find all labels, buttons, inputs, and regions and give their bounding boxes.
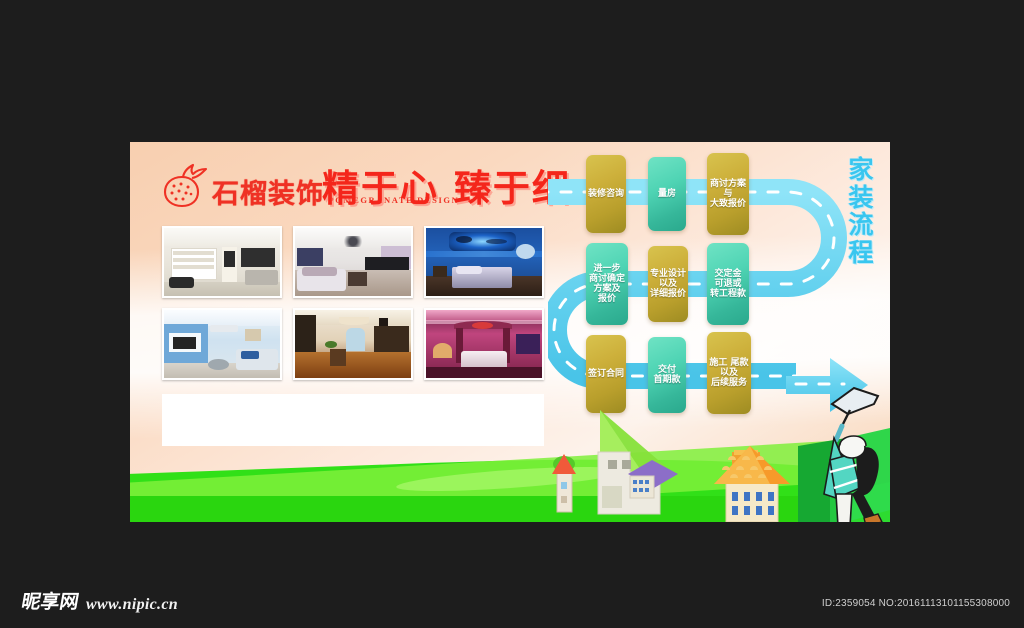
flow-step-4-label-3: 方案及 bbox=[593, 284, 620, 294]
flow-step-6-label-3: 转工程款 bbox=[710, 289, 746, 299]
flow-title-char-2: 装 bbox=[844, 184, 878, 212]
flow-step-5-label-1: 专业设计 bbox=[650, 269, 686, 279]
flow-step-1[interactable]: 装修咨询 bbox=[586, 155, 626, 233]
flow-step-2[interactable]: 量房 bbox=[648, 157, 686, 231]
nipic-logo[interactable]: 昵享网 www.nipic.cn bbox=[22, 587, 178, 614]
flow-step-3[interactable]: 商讨方案 与 大致报价 bbox=[707, 153, 749, 235]
photo-living-room-white-shelves bbox=[162, 226, 282, 298]
blank-content-panel bbox=[162, 394, 544, 446]
flow-title-char-3: 流 bbox=[844, 211, 878, 239]
flow-step-9-label-1: 施工 尾款 bbox=[709, 358, 748, 368]
flow-step-9[interactable]: 施工 尾款 以及 后续服务 bbox=[707, 332, 751, 414]
flow-step-3-label-1: 商讨方案 bbox=[710, 179, 746, 189]
poster-artwork: 石榴装饰 POMEGRANATE DESIGN 精于心 臻于细 bbox=[130, 142, 890, 522]
flow-step-6[interactable]: 交定金 可退或 转工程款 bbox=[707, 243, 749, 325]
flow-step-8-label-2: 首期款 bbox=[653, 375, 680, 385]
screenshot-canvas: 石榴装饰 POMEGRANATE DESIGN 精于心 臻于细 bbox=[0, 0, 1024, 628]
flow-step-6-label-2: 可退或 bbox=[714, 279, 741, 289]
photo-grid bbox=[162, 226, 544, 380]
flow-step-5-label-3: 详细报价 bbox=[650, 289, 686, 299]
photo-bedroom-pink-canopy bbox=[424, 308, 544, 380]
flow-step-4[interactable]: 进一步 商讨确定 方案及 报价 bbox=[586, 243, 628, 325]
flow-step-3-label-2: 与 bbox=[723, 189, 732, 199]
brand-name-cn: 石榴装饰 bbox=[212, 179, 324, 210]
flow-title-char-1: 家 bbox=[844, 156, 878, 184]
flow-step-8[interactable]: 交付 首期款 bbox=[648, 337, 686, 413]
photo-hallway-wood-floor-warm bbox=[293, 308, 413, 380]
flow-step-2-label: 量房 bbox=[658, 189, 676, 199]
flow-step-8-label-1: 交付 bbox=[658, 365, 676, 375]
asset-id-label: ID:2359054 NO:20161113101155308000 bbox=[822, 598, 1010, 609]
home-decoration-flow-diagram: 装修咨询 量房 商讨方案 与 大致报价 进一步 商讨确定 方案及 报价 专业设计… bbox=[548, 142, 890, 522]
flow-step-3-label-3: 大致报价 bbox=[710, 199, 746, 209]
photo-bedroom-chandelier-grey bbox=[293, 226, 413, 298]
flow-step-5-label-2: 以及 bbox=[659, 279, 677, 289]
site-url: www.nipic.cn bbox=[86, 596, 178, 614]
slogan: 精于心 臻于细 bbox=[322, 158, 571, 212]
photo-living-room-blue-tv-wall bbox=[162, 308, 282, 380]
flow-step-4-label-4: 报价 bbox=[598, 294, 616, 304]
flow-step-9-label-3: 后续服务 bbox=[711, 378, 747, 388]
flow-step-6-label-1: 交定金 bbox=[714, 269, 741, 279]
flow-step-9-label-2: 以及 bbox=[720, 368, 738, 378]
photo-bedroom-blue-starry-ceiling bbox=[424, 226, 544, 298]
flow-title-char-4: 程 bbox=[844, 239, 878, 267]
flow-step-7[interactable]: 签订合同 bbox=[586, 335, 626, 413]
flow-step-4-label-1: 进一步 bbox=[593, 264, 620, 274]
flow-step-7-label: 签订合同 bbox=[588, 369, 624, 379]
site-name-cn: 昵享网 bbox=[20, 587, 82, 614]
flow-step-1-label: 装修咨询 bbox=[588, 189, 624, 199]
flow-title-vertical: 家 装 流 程 bbox=[844, 156, 878, 266]
flow-step-5[interactable]: 专业设计 以及 详细报价 bbox=[648, 246, 688, 322]
pomegranate-icon bbox=[162, 160, 208, 208]
watermark-footer: 昵享网 www.nipic.cn ID:2359054 NO:201611131… bbox=[0, 570, 1024, 628]
flow-step-4-label-2: 商讨确定 bbox=[589, 274, 625, 284]
